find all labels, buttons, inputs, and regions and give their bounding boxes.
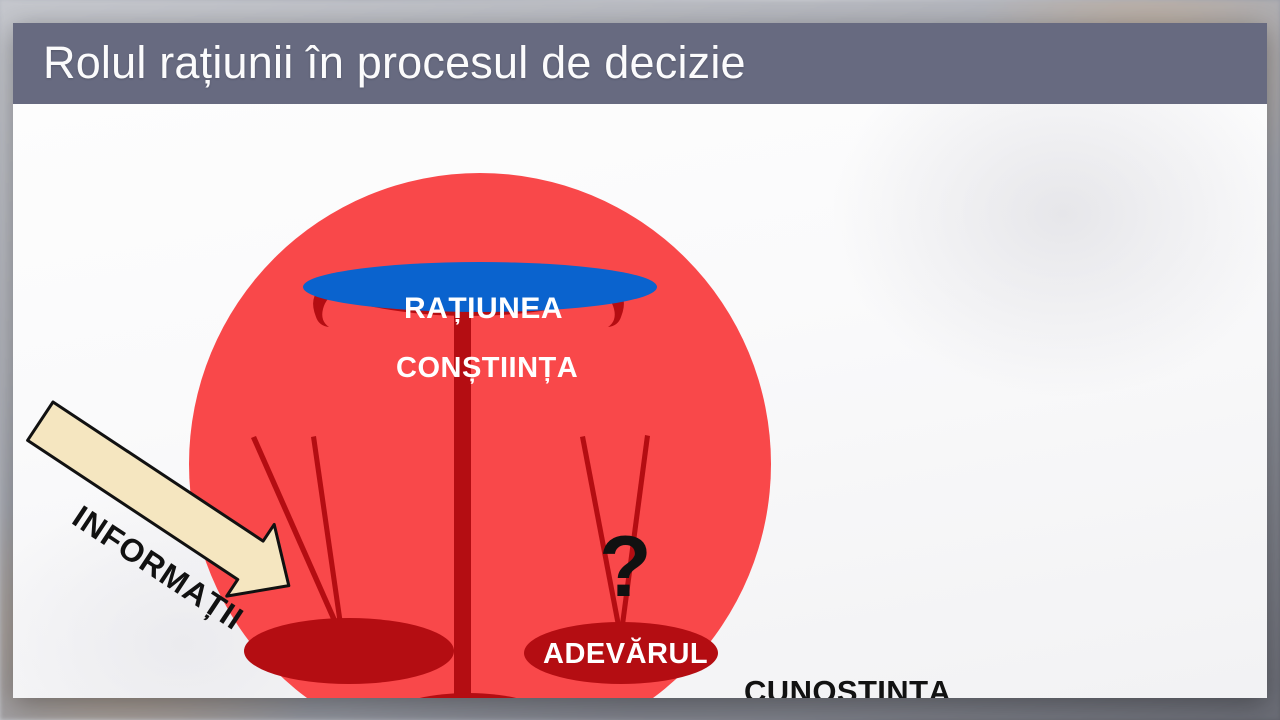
red-circle-background [189,173,771,698]
scale-pan-left [244,618,454,684]
slide-title-bar: Rolul rațiunii în procesul de decizie [13,23,1267,104]
label-adevarul: ADEVĂRUL [543,640,708,669]
label-constiinta: CONȘTIINȚA [396,354,578,383]
scale-center-post [454,279,471,698]
presentation-slide: Rolul rațiunii în procesul de decizie [13,23,1267,698]
slide-content-area: RAȚIUNEA CONȘTIINȚA ? ADEVĂRUL CUNOȘTINȚ… [13,104,1267,698]
question-mark-glyph: ? [599,524,652,610]
screenshot-stage: Rolul rațiunii în procesul de decizie [0,0,1280,720]
page-title: Rolul rațiunii în procesul de decizie [43,37,746,89]
label-ratiunea: RAȚIUNEA [404,294,563,324]
label-cunostinta: CUNOȘTINȚA [744,676,951,698]
